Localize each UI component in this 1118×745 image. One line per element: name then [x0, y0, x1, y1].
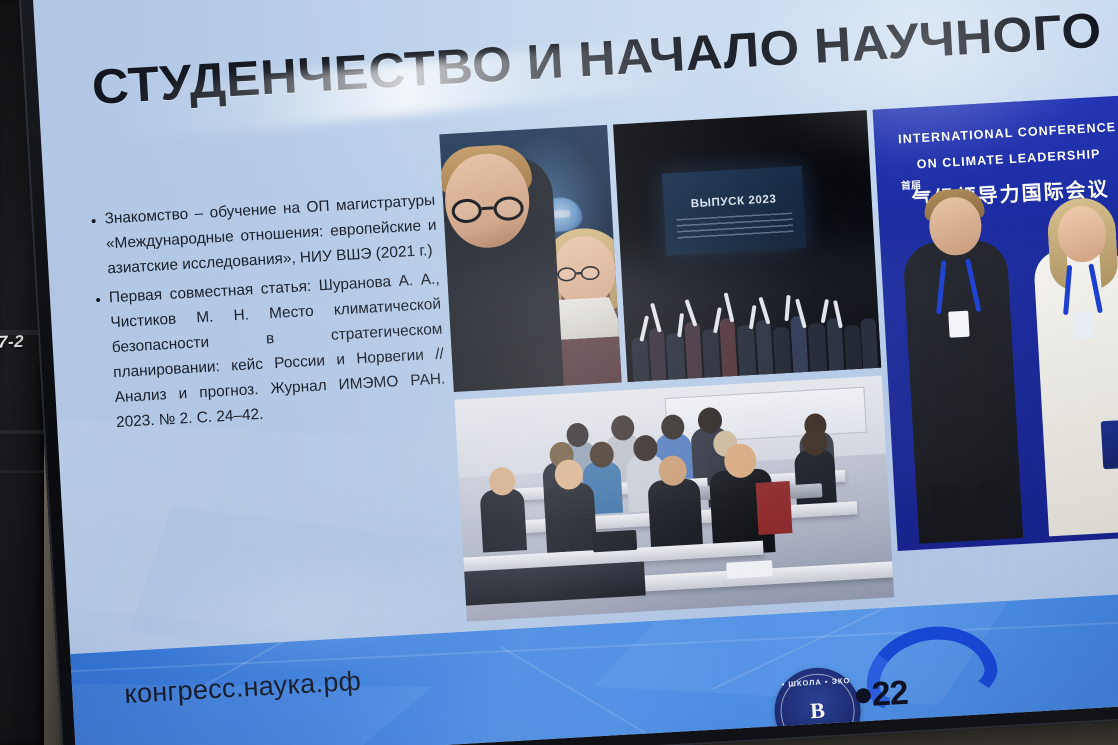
legs [978, 481, 1007, 540]
head [611, 415, 635, 441]
head [554, 459, 584, 491]
crowd-figure [649, 328, 667, 381]
photo-graduation: ВЫПУСК 2023 [613, 110, 881, 382]
lens-right [580, 266, 599, 281]
conference-badge [948, 311, 969, 338]
laptop [592, 530, 637, 552]
chair-row [756, 481, 793, 535]
conference-badge [1072, 312, 1093, 339]
conference-seal-chinese: 首届 [901, 179, 929, 208]
conference-title-line1: INTERNATIONAL CONFERENCE [874, 119, 1118, 148]
list-item: Знакомство – обучение на ОП магистратуры… [91, 189, 439, 283]
room-photo: 7-2 СТУДЕНЧЕСТВО И НАЧАЛО НАУЧНОГО ПУТИ … [0, 0, 1118, 745]
bullet-list: Знакомство – обучение на ОП магистратуры… [91, 189, 448, 441]
bullet-text: Знакомство – обучение на ОП магистратуры… [104, 189, 439, 283]
head [658, 455, 688, 487]
raised-arm [784, 295, 790, 321]
crowd-figure [666, 333, 686, 380]
conference-title-line2: ON CLIMATE LEADERSHIP [875, 145, 1118, 174]
lens-left [451, 198, 482, 224]
photo-students-pair [439, 125, 621, 392]
list-item: Первая совместная статья: Шуранова А. А.… [95, 267, 447, 436]
head [697, 407, 722, 434]
logo-year-text: 22 [871, 674, 909, 715]
person-man [439, 154, 563, 392]
crowd-figure [737, 325, 757, 376]
crowd-figure [702, 329, 721, 378]
head [488, 467, 516, 496]
equipment-label: 7-2 [0, 331, 42, 352]
raised-arm [677, 313, 684, 337]
head [589, 441, 614, 468]
photo-collage: ВЫПУСК 2023 [437, 90, 1118, 635]
student [480, 488, 527, 552]
rack-divider [0, 470, 44, 473]
dot-icon [855, 688, 871, 704]
crowd-figure [773, 327, 792, 374]
lens-right [493, 196, 524, 222]
display-panel: СТУДЕНЧЕСТВО И НАЧАЛО НАУЧНОГО ПУТИ Знак… [18, 0, 1118, 745]
bridge [576, 272, 582, 275]
bullet-dot-icon [96, 298, 100, 302]
crowd-figure [808, 323, 828, 372]
student [794, 449, 837, 509]
photo-climate-conference: INTERNATIONAL CONFERENCE ON CLIMATE LEAD… [873, 95, 1118, 551]
crowd-figure [684, 322, 702, 379]
legs [932, 484, 961, 543]
graduation-banner-text: ВЫПУСК 2023 [663, 192, 803, 212]
student [543, 482, 597, 553]
crowd-figure [631, 337, 649, 382]
crowd-figure [719, 318, 737, 377]
head [802, 428, 828, 456]
congress-22-logo: 22 [826, 616, 1021, 723]
head [566, 422, 589, 447]
presentation-slide: СТУДЕНЧЕСТВО И НАЧАЛО НАУЧНОГО ПУТИ Знак… [33, 0, 1118, 745]
photo-classroom [454, 376, 894, 622]
lanyard [965, 258, 981, 312]
bullet-dot-icon [92, 219, 96, 223]
glasses-icon [451, 196, 524, 224]
tote-bag [1101, 419, 1118, 469]
rack-divider [0, 430, 44, 434]
display-bezel: СТУДЕНЧЕСТВО И НАЧАЛО НАУЧНОГО ПУТИ Знак… [18, 0, 1118, 745]
crowd-figure [860, 318, 878, 369]
crowd [621, 246, 882, 382]
banner-subtext [676, 212, 793, 241]
head [661, 414, 685, 440]
lanyard [936, 260, 946, 314]
crowd-figure [755, 320, 773, 375]
stage-screen: ВЫПУСК 2023 [662, 166, 806, 256]
lens-left [557, 267, 576, 282]
paper [726, 560, 773, 579]
bullet-text: Первая совместная статья: Шуранова А. А.… [108, 267, 447, 435]
glasses-icon [557, 266, 600, 282]
person-man [902, 238, 1023, 543]
bridge [482, 206, 494, 210]
head [633, 435, 658, 462]
laptop [790, 483, 823, 499]
person-woman [1033, 246, 1118, 537]
crowd-figure [844, 325, 862, 370]
